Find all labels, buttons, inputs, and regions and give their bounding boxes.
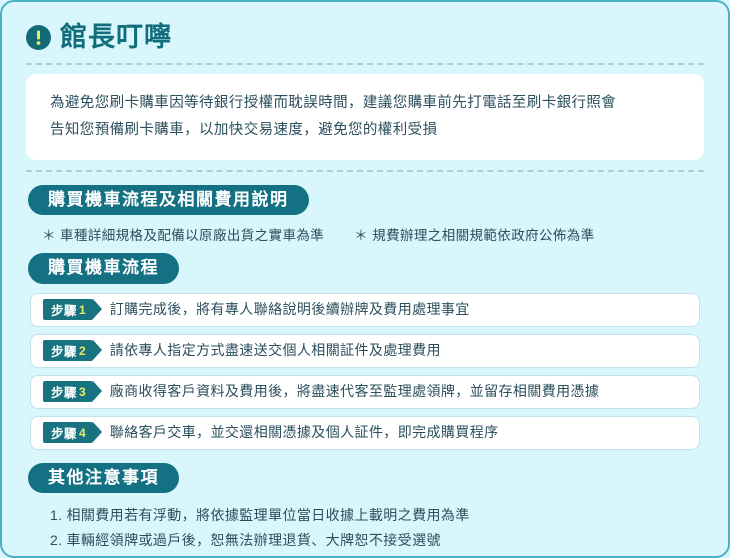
reminder-card: 為避免您刷卡購車因等待銀行授權而耽誤時間，建議您購車前先打電話至刷卡銀行照會 告…: [26, 74, 704, 160]
flow-section-header: 購買機車流程: [28, 253, 706, 284]
page-header: 館長叮嚀: [24, 24, 706, 51]
asterisk-notes: ＊ 車種詳細規格及配備以原廠出貨之實車為準 ＊ 規費辦理之相關規範依政府公佈為準: [42, 224, 706, 244]
page-title: 館長叮嚀: [60, 24, 172, 51]
step-list: 步驟 1 訂購完成後，將有專人聯絡說明後續辦牌及費用處理事宜 步驟 2 請依專人…: [30, 293, 700, 450]
list-item: 1. 相關費用若有浮動，將依據監理單位當日收據上載明之費用為準: [50, 503, 706, 528]
step-badge: 步驟 4: [43, 422, 93, 443]
step-row: 步驟 2 請依專人指定方式盡速送交個人相關証件及處理費用: [30, 334, 700, 368]
step-badge: 步驟 3: [43, 381, 93, 402]
step-badge-number: 2: [79, 344, 86, 358]
step-badge: 步驟 2: [43, 340, 93, 361]
step-row: 步驟 3 廠商收得客戶資料及費用後，將盡速代客至監理處領牌，並留存相關費用憑據: [30, 375, 700, 409]
step-badge-number: 4: [79, 426, 86, 440]
other-notice-list: 1. 相關費用若有浮動，將依據監理單位當日收據上載明之費用為準 2. 車輛經領牌…: [50, 503, 706, 552]
step-badge-word: 步驟: [51, 300, 77, 319]
overview-title-pill: 購買機車流程及相關費用說明: [28, 185, 309, 216]
notice-page: 館長叮嚀 為避免您刷卡購車因等待銀行授權而耽誤時間，建議您購車前先打電話至刷卡銀…: [0, 0, 730, 558]
step-text: 聯絡客戶交車，並交還相關憑據及個人証件，即完成購買程序: [110, 424, 499, 441]
step-text: 廠商收得客戶資料及費用後，將盡速代客至監理處領牌，並留存相關費用憑據: [110, 383, 600, 400]
step-badge-word: 步驟: [51, 423, 77, 442]
divider-bottom: [26, 170, 704, 172]
reminder-line-2: 告知您預備刷卡購車，以加快交易速度，避免您的權利受損: [50, 117, 682, 144]
flow-title-pill: 購買機車流程: [28, 253, 179, 284]
asterisk-note-2: ＊ 規費辦理之相關規範依政府公佈為準: [354, 224, 594, 244]
exclamation-icon: [26, 25, 51, 50]
asterisk-note-1: ＊ 車種詳細規格及配備以原廠出貨之實車為準: [42, 224, 324, 244]
notice-number: 2.: [50, 528, 62, 553]
reminder-line-1: 為避免您刷卡購車因等待銀行授權而耽誤時間，建議您購車前先打電話至刷卡銀行照會: [50, 90, 682, 117]
step-badge-word: 步驟: [51, 341, 77, 360]
page-content: 館長叮嚀 為避免您刷卡購車因等待銀行授權而耽誤時間，建議您購車前先打電話至刷卡銀…: [2, 2, 728, 552]
other-section-header: 其他注意事項: [28, 463, 706, 494]
step-text: 請依專人指定方式盡速送交個人相關証件及處理費用: [110, 342, 441, 359]
step-badge-number: 1: [79, 303, 86, 317]
other-title-pill: 其他注意事項: [28, 463, 179, 494]
overview-section-header: 購買機車流程及相關費用說明: [28, 185, 706, 216]
step-badge-number: 3: [79, 385, 86, 399]
list-item: 2. 車輛經領牌或過戶後，恕無法辦理退貨、大牌恕不接受選號: [50, 528, 706, 553]
divider-top: [26, 63, 704, 65]
step-badge-word: 步驟: [51, 382, 77, 401]
step-text: 訂購完成後，將有專人聯絡說明後續辦牌及費用處理事宜: [110, 301, 470, 318]
step-badge: 步驟 1: [43, 299, 93, 320]
notice-text: 相關費用若有浮動，將依據監理單位當日收據上載明之費用為準: [66, 503, 469, 528]
step-row: 步驟 1 訂購完成後，將有專人聯絡說明後續辦牌及費用處理事宜: [30, 293, 700, 327]
notice-number: 1.: [50, 503, 62, 528]
step-row: 步驟 4 聯絡客戶交車，並交還相關憑據及個人証件，即完成購買程序: [30, 416, 700, 450]
notice-text: 車輛經領牌或過戶後，恕無法辦理退貨、大牌恕不接受選號: [66, 528, 440, 553]
